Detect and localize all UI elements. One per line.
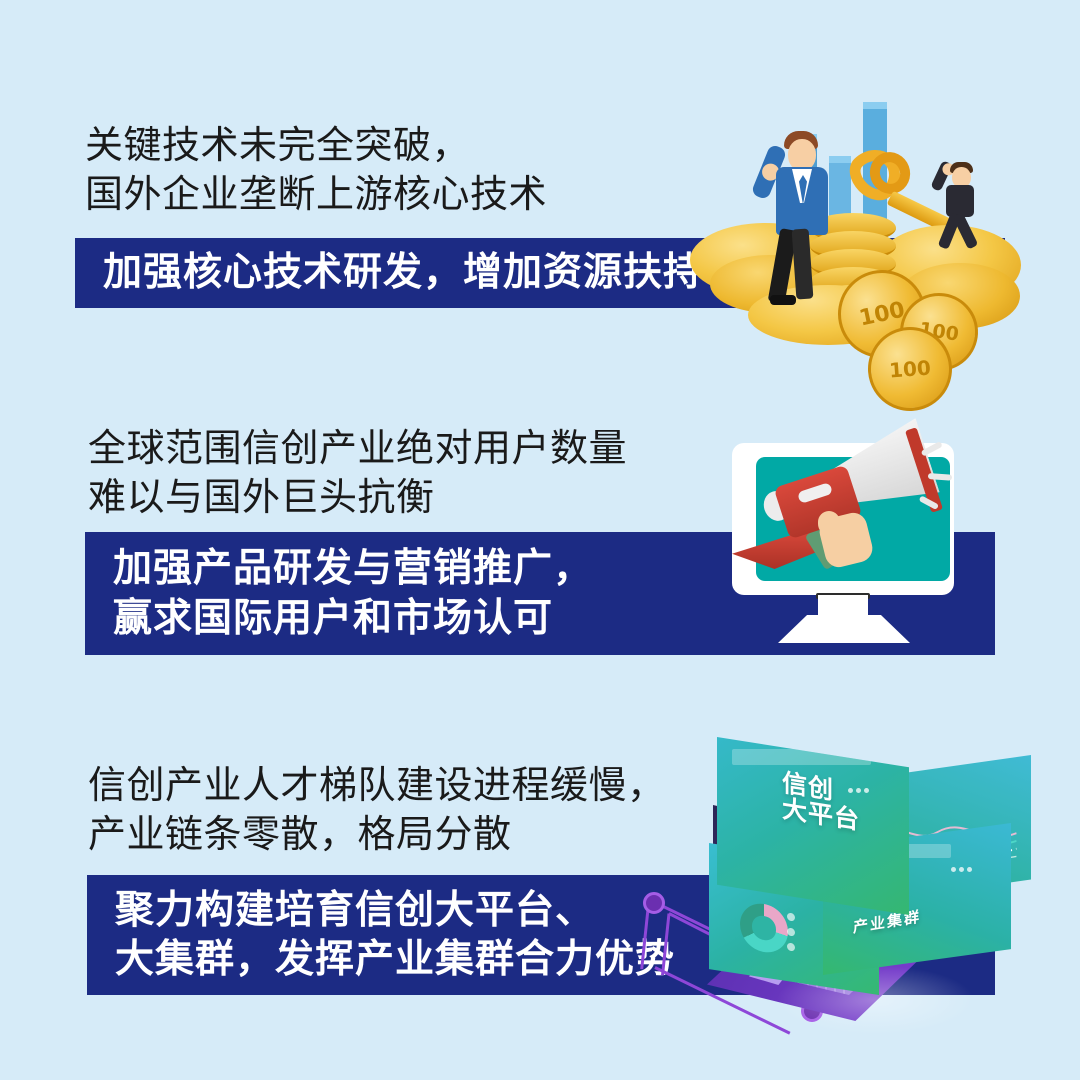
- donut-chart-icon: [740, 900, 788, 956]
- problem-statement-3: 信创产业人才梯队建设进程缓慢， 产业链条零散，格局分散: [88, 762, 666, 859]
- solution-text-2: 加强产品研发与营销推广， 赢求国际用户和市场认可: [85, 544, 593, 642]
- monitor-neck: [818, 595, 868, 617]
- problem-statement-2: 全球范围信创产业绝对用户数量 难以与国外巨头抗衡: [88, 425, 627, 522]
- solution-text-1: 加强核心技术研发，增加资源扶持: [75, 248, 703, 297]
- cheering-figure: [930, 157, 990, 247]
- panel-main-platform: 信创 大平台: [717, 737, 909, 915]
- solution-text-3: 聚力构建培育信创大平台、 大集群，发挥产业集群合力优势: [87, 886, 675, 984]
- problem-statement-1: 关键技术未完全突破， 国外企业垄断上游核心技术: [85, 122, 547, 219]
- gold-coins-businessman-illustration: 100 100 100: [690, 95, 1020, 345]
- businessman-figure: [756, 117, 866, 297]
- monitor-megaphone-illustration: [722, 443, 972, 648]
- legend-dots: [787, 912, 795, 958]
- panel-platform-title: 信创 大平台: [782, 770, 860, 835]
- monitor-base: [778, 615, 910, 643]
- infographic-canvas: 关键技术未完全突破， 国外企业垄断上游核心技术 加强核心技术研发，增加资源扶持: [0, 0, 1080, 1080]
- hand-thumb: [818, 511, 840, 535]
- isometric-laptop-platform-illustration: 产业集群 信创 大平台: [625, 725, 1020, 1045]
